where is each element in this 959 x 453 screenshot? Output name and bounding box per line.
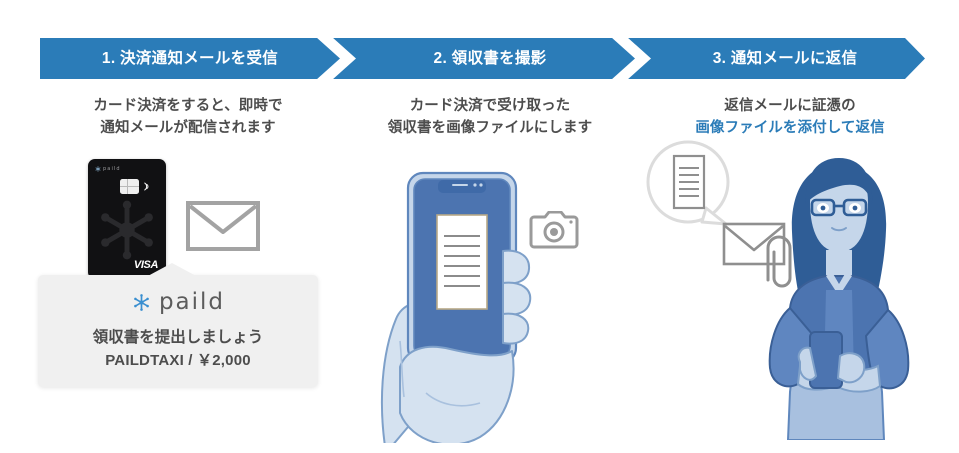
palm-shape: [400, 347, 514, 443]
contactless-icon: [143, 181, 152, 192]
step-1-caption-line-1: カード決済をすると、即時で: [38, 95, 338, 117]
step-3-caption: 返信メールに証憑の 画像ファイルを添付して返信: [640, 95, 940, 140]
notification-brand-logo: paild: [38, 289, 318, 315]
envelope-icon: [186, 201, 260, 251]
notification-brand-logo-text: paild: [159, 289, 225, 315]
step-2-caption-line-2: 領収書を画像ファイルにします: [340, 117, 640, 139]
notification-detail: PAILDTAXI / ￥2,000: [38, 349, 318, 370]
person-replying-illustration: [640, 140, 950, 440]
phone-notch: [438, 180, 486, 193]
notification-card-notch: [146, 263, 198, 277]
step-1-column: カード決済をすると、即時で 通知メールが配信されます paild: [38, 95, 338, 435]
notification-title: 領収書を提出しましょう: [38, 325, 318, 347]
step-2-caption-line-1: カード決済で受け取った: [340, 95, 640, 117]
notification-card: paild 領収書を提出しましょう PAILDTAXI / ￥2,000: [38, 275, 318, 387]
step-band-shape: [40, 38, 925, 79]
woman-figure: [770, 158, 909, 440]
snowflake-icon: [95, 166, 101, 172]
document-icon: [674, 156, 704, 208]
step-3-illustration: [640, 140, 950, 440]
phone-sensor-icon: [473, 183, 476, 186]
step-3-caption-line-1: 返信メールに証憑の: [640, 95, 940, 117]
held-phone: [810, 332, 842, 388]
step-1-illustration: paild: [38, 155, 338, 445]
step-2-illustration: [340, 153, 640, 453]
step-2-column: カード決済で受け取った 領収書を画像ファイルにします: [340, 95, 640, 435]
step-2-caption: カード決済で受け取った 領収書を画像ファイルにします: [340, 95, 640, 140]
snowflake-icon: [131, 292, 152, 313]
phone-speaker: [452, 184, 468, 186]
card-brand-logo-text: paild: [103, 166, 121, 172]
step-progress-band: [40, 38, 925, 79]
camera-icon: [528, 211, 580, 251]
band-background: [40, 38, 925, 79]
step-3-column: 返信メールに証憑の 画像ファイルを添付して返信: [640, 95, 940, 435]
receipt-document: [437, 215, 487, 309]
card-snowflake-watermark-icon: [92, 195, 162, 265]
step-1-caption: カード決済をすると、即時で 通知メールが配信されます: [38, 95, 338, 140]
card-brand-logo: paild: [95, 166, 121, 172]
right-hand: [838, 353, 864, 382]
phone-camera-dot-icon: [479, 183, 482, 186]
card-chip-icon: [120, 179, 139, 194]
fingers-shape: [503, 251, 530, 344]
step-1-caption-line-2: 通知メールが配信されます: [38, 117, 338, 139]
paild-credit-card: paild: [88, 159, 166, 279]
hand-holding-phone-illustration: [340, 153, 640, 443]
step-3-caption-line-2-highlight: 画像ファイルを添付して返信: [640, 117, 940, 139]
